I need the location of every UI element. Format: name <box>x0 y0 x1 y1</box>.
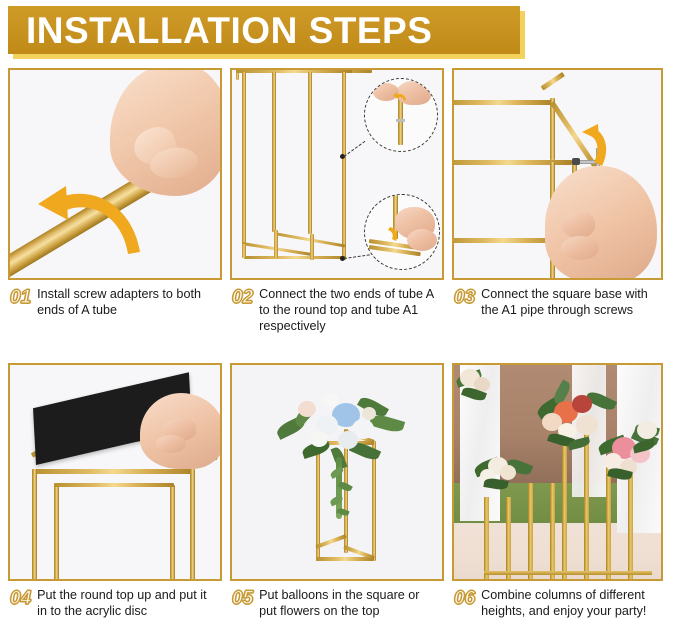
step-image-03 <box>452 68 663 280</box>
step-cell-03: 03 Connect the square base with the A1 p… <box>452 68 671 363</box>
step-image-01 <box>8 68 222 280</box>
step-number-02: 02 <box>232 287 253 309</box>
step-cell-01: 01 Install screw adapters to both ends o… <box>8 68 230 363</box>
step-image-02 <box>230 68 444 280</box>
thumb-graphic <box>156 435 186 453</box>
step-caption-01: 01 Install screw adapters to both ends o… <box>8 287 222 319</box>
rotation-arrow-icon <box>393 91 409 107</box>
finger-graphic <box>561 212 595 238</box>
finger-graphic <box>561 236 599 260</box>
step-image-05 <box>230 363 444 581</box>
callout-top <box>364 78 438 152</box>
step-cell-06: 06 Combine columns of different heights,… <box>452 363 671 628</box>
step-number-04: 04 <box>10 588 31 610</box>
step-caption-06: 06 Combine columns of different heights,… <box>452 588 663 620</box>
step-number-01: 01 <box>10 287 31 309</box>
step-image-04 <box>8 363 222 581</box>
step-caption-03: 03 Connect the square base with the A1 p… <box>452 287 663 319</box>
step-caption-05: 05 Put balloons in the square or put flo… <box>230 588 444 620</box>
banner-body: INSTALLATION STEPS <box>8 6 520 54</box>
step-text-01: Install screw adapters to both ends of A… <box>37 287 201 319</box>
step-text-06: Combine columns of different heights, an… <box>481 588 646 620</box>
step-text-04: Put the round top up and put it in to th… <box>37 588 206 620</box>
step-cell-02: 02 Connect the two ends of tube A to the… <box>230 68 452 363</box>
step-text-03: Connect the square base with the A1 pipe… <box>481 287 648 319</box>
step-text-05: Put balloons in the square or put flower… <box>259 588 419 620</box>
header-banner: INSTALLATION STEPS <box>8 6 520 54</box>
step-caption-04: 04 Put the round top up and put it in to… <box>8 588 222 620</box>
step-number-05: 05 <box>232 588 253 610</box>
step-text-02: Connect the two ends of tube A to the ro… <box>259 287 434 335</box>
step-number-06: 06 <box>454 588 475 610</box>
step-image-06 <box>452 363 663 581</box>
callout-bottom <box>364 194 440 270</box>
rotation-arrow-icon <box>32 174 152 270</box>
step-cell-05: 05 Put balloons in the square or put flo… <box>230 363 452 628</box>
step-number-03: 03 <box>454 287 475 309</box>
rotation-arrow-icon <box>387 225 403 243</box>
steps-grid: 01 Install screw adapters to both ends o… <box>8 68 671 628</box>
step-caption-02: 02 Connect the two ends of tube A to the… <box>230 287 444 335</box>
page-title: INSTALLATION STEPS <box>26 12 432 49</box>
step-cell-04: 04 Put the round top up and put it in to… <box>8 363 230 628</box>
